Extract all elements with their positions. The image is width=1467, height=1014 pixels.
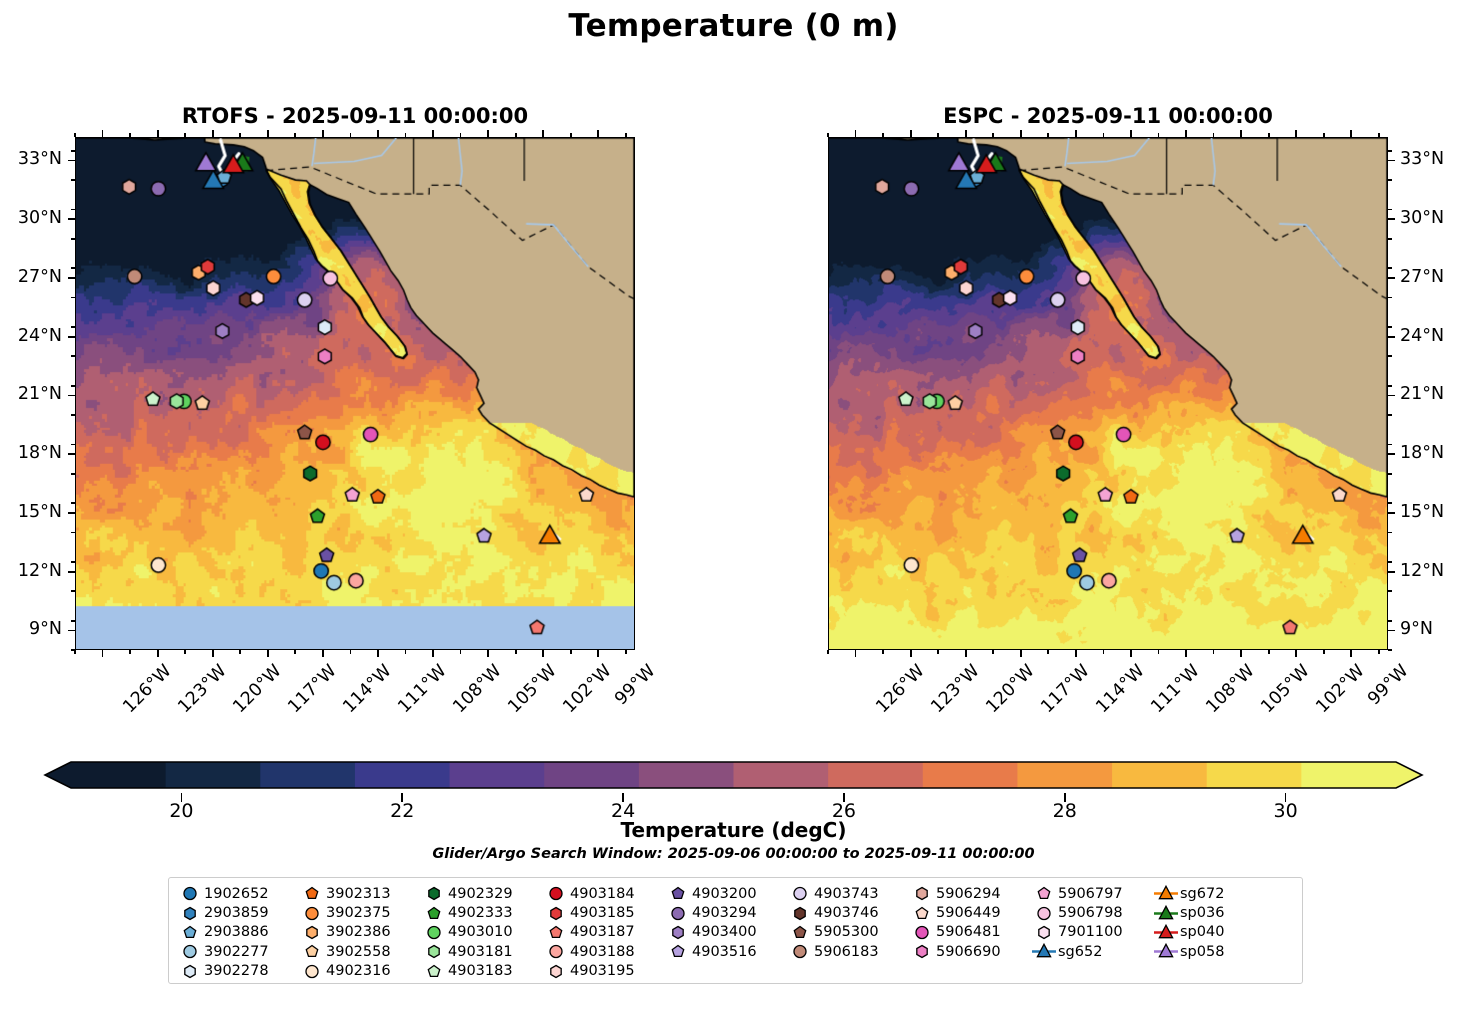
lon-minor-tick (1323, 133, 1325, 137)
colorbar-extend-min (45, 762, 71, 788)
lon-tick-label: 105°W (505, 661, 561, 717)
lon-tick-top (1075, 130, 1077, 137)
lon-tick-top (157, 130, 159, 137)
lat-tick-label: 30°N (0, 208, 62, 228)
search-window-note: Glider/Argo Search Window: 2025-09-06 00… (0, 846, 1467, 862)
lon-minor-tick (1213, 133, 1215, 137)
lon-minor-tick (239, 650, 241, 654)
hexagon-marker-icon (299, 923, 325, 942)
lat-minor-tick (1388, 355, 1392, 357)
lon-minor-tick (129, 133, 131, 137)
legend-column: 4903200490329449034004903516 (665, 884, 787, 981)
lon-minor-tick (1158, 650, 1160, 654)
lon-tick-label: 102°W (560, 661, 616, 717)
lon-tick (1130, 650, 1132, 657)
legend-item-label: 4902333 (447, 905, 513, 921)
legend-item[interactable]: sp040 (1153, 923, 1258, 942)
colorbar-segment (639, 762, 734, 788)
lon-tick (377, 650, 379, 657)
legend-item[interactable]: 4902316 (299, 962, 421, 981)
legend-column: 49031844903185490318749031884903195 (543, 884, 665, 981)
lat-minor-tick (71, 179, 75, 181)
lon-minor-tick (882, 650, 884, 654)
lon-minor-tick (460, 650, 462, 654)
lat-tick (1388, 512, 1395, 514)
map-canvas-espc (829, 138, 1387, 649)
map-panel-espc[interactable] (828, 137, 1388, 650)
legend-item-label: 2903859 (203, 905, 269, 921)
map-canvas-rtofs (76, 138, 634, 649)
legend-column: 4903743490374659053005906183 (787, 884, 909, 981)
legend-item-label: 4903746 (813, 905, 879, 921)
legend-item-label: 4903516 (691, 944, 757, 960)
glider-marker-icon (1153, 942, 1179, 961)
legend-item-label: sg652 (1057, 944, 1102, 960)
lon-tick-label: 102°W (1313, 661, 1369, 717)
lat-tick (1388, 571, 1395, 573)
lat-minor-tick (71, 444, 75, 446)
lon-tick-top (487, 130, 489, 137)
legend-item[interactable]: 3902386 (299, 923, 421, 942)
legend-item-label: 4903200 (691, 886, 757, 902)
pentagon-marker-icon (177, 923, 203, 942)
circle-marker-icon (299, 904, 325, 923)
lon-tick-label: 114°W (1092, 661, 1148, 717)
legend-item-label: 4903183 (447, 963, 513, 979)
lon-tick (1020, 650, 1022, 657)
legend-item[interactable]: sg672 (1153, 884, 1258, 903)
legend-item-label: 5906183 (813, 944, 879, 960)
lat-minor-tick (1388, 209, 1392, 211)
legend-item-label: 3902558 (325, 944, 391, 960)
panel-title-espc: ESPC - 2025-09-11 00:00:00 (828, 104, 1388, 128)
lat-minor-tick (1388, 326, 1392, 328)
colorbar[interactable] (0, 758, 1467, 802)
legend-item[interactable]: 2903886 (177, 923, 299, 942)
legend-item-label: 5905300 (813, 924, 879, 940)
lon-tick-top (1020, 130, 1022, 137)
legend-item[interactable]: 5906294 (909, 884, 1031, 903)
hexagon-marker-icon (787, 904, 813, 923)
legend-item[interactable]: 4903400 (665, 923, 787, 942)
circle-marker-icon (909, 923, 935, 942)
legend-item-label: 3902386 (325, 924, 391, 940)
legend-item[interactable]: 4903183 (421, 962, 543, 981)
lat-minor-tick (71, 267, 75, 269)
lon-minor-tick (1323, 650, 1325, 654)
lat-minor-tick (71, 150, 75, 152)
lat-tick-label: 9°N (0, 619, 62, 639)
legend-item[interactable]: 5906449 (909, 903, 1031, 922)
legend-item[interactable]: 4903516 (665, 942, 787, 961)
lat-minor-tick (1388, 297, 1392, 299)
lat-minor-tick (1388, 649, 1392, 651)
hexagon-marker-icon (177, 904, 203, 923)
legend-column: 19026522903859290388639022773902278 (177, 884, 299, 981)
legend-item-label: 3902278 (203, 963, 269, 979)
lat-tick (68, 277, 75, 279)
circle-marker-icon (177, 884, 203, 903)
lon-tick-label: 111°W (1147, 661, 1203, 717)
lon-minor-tick (350, 650, 352, 654)
legend-item-label: 5906481 (935, 924, 1001, 940)
circle-marker-icon (421, 923, 447, 942)
lon-minor-tick (129, 650, 131, 654)
legend-item[interactable]: sg652 (1031, 942, 1153, 961)
lat-tick-label: 12°N (1400, 561, 1444, 581)
lat-tick (68, 218, 75, 220)
lon-tick (910, 650, 912, 657)
lat-minor-tick (1388, 414, 1392, 416)
lon-minor-tick (1268, 133, 1270, 137)
lon-minor-tick (992, 650, 994, 654)
legend-item-label: 5906798 (1057, 905, 1123, 921)
legend-item-label: 4903181 (447, 944, 513, 960)
legend-item-label: 4902329 (447, 886, 513, 902)
lon-minor-tick (184, 133, 186, 137)
lon-tick-label: 108°W (449, 661, 505, 717)
lon-tick (1295, 650, 1297, 657)
lat-tick (1388, 218, 1395, 220)
lat-tick (1388, 336, 1395, 338)
hexagon-marker-icon (543, 904, 569, 923)
glider-marker-icon (1153, 923, 1179, 942)
lon-tick (542, 650, 544, 657)
lon-tick-label: 123°W (174, 661, 230, 717)
lon-tick-label: 120°W (982, 661, 1038, 717)
legend-item[interactable]: 3902313 (299, 884, 421, 903)
lon-tick-label: 111°W (394, 661, 450, 717)
legend-item[interactable]: 5906798 (1031, 903, 1153, 922)
lat-tick (1388, 160, 1395, 162)
legend-item-label: 2903886 (203, 924, 269, 940)
lon-tick-label: 114°W (339, 661, 395, 717)
circle-marker-icon (787, 884, 813, 903)
figure-root: Temperature (0 m) RTOFS - 2025-09-11 00:… (0, 0, 1467, 1014)
legend-column: 49023294902333490301049031814903183 (421, 884, 543, 981)
lon-tick (212, 650, 214, 657)
colorbar-segment (1207, 762, 1302, 788)
lat-minor-tick (1388, 590, 1392, 592)
lat-tick-label: 15°N (1400, 502, 1444, 522)
legend-item[interactable]: 4903187 (543, 923, 665, 942)
colorbar-segment (544, 762, 639, 788)
legend-item[interactable]: 2903859 (177, 903, 299, 922)
lat-tick-label: 27°N (0, 267, 62, 287)
colorbar-segment (1017, 762, 1112, 788)
lat-tick (1388, 277, 1395, 279)
circle-marker-icon (177, 942, 203, 961)
legend-item[interactable]: 4903188 (543, 942, 665, 961)
lon-minor-tick (515, 133, 517, 137)
lon-tick-label: 108°W (1202, 661, 1258, 717)
lat-tick (68, 512, 75, 514)
legend-item[interactable]: 4902329 (421, 884, 543, 903)
legend-item[interactable]: 5906481 (909, 923, 1031, 942)
lat-tick-label: 18°N (1400, 443, 1444, 463)
lon-minor-tick (294, 650, 296, 654)
pentagon-marker-icon (665, 942, 691, 961)
lon-tick-top (542, 130, 544, 137)
lon-tick-top (1240, 130, 1242, 137)
lon-minor-tick (405, 133, 407, 137)
lon-minor-tick (74, 133, 76, 137)
legend-item-label: 1902652 (203, 886, 269, 902)
legend-item[interactable]: 5906690 (909, 942, 1031, 961)
glider-marker-icon (1031, 942, 1057, 961)
lat-tick (68, 395, 75, 397)
legend-item[interactable]: 3902277 (177, 942, 299, 961)
lon-minor-tick (570, 133, 572, 137)
lon-tick (1240, 650, 1242, 657)
lon-tick-top (377, 130, 379, 137)
legend-item[interactable]: 4903185 (543, 903, 665, 922)
lat-tick (1388, 630, 1395, 632)
lat-tick (68, 160, 75, 162)
lon-tick-top (322, 130, 324, 137)
lon-minor-tick (1103, 133, 1105, 137)
legend-item-label: 3902313 (325, 886, 391, 902)
lon-minor-tick (74, 650, 76, 654)
legend-column: sg672sp036sp040sp058 (1153, 884, 1258, 981)
lon-tick-label: 105°W (1258, 661, 1314, 717)
legend-item-label: 4903185 (569, 905, 635, 921)
lat-tick-label: 12°N (0, 561, 62, 581)
hexagon-marker-icon (543, 962, 569, 981)
legend-item[interactable]: 3902375 (299, 903, 421, 922)
lon-tick-label: 117°W (284, 661, 340, 717)
legend-item-label: sp058 (1179, 944, 1224, 960)
legend-item-label: 4903184 (569, 886, 635, 902)
lon-tick-label: 99°W (611, 661, 659, 709)
legend-item[interactable]: 4903743 (787, 884, 909, 903)
lat-tick-label: 24°N (0, 326, 62, 346)
legend-item-label: 4903400 (691, 924, 757, 940)
lon-tick (1185, 650, 1187, 657)
pentagon-marker-icon (299, 884, 325, 903)
circle-marker-icon (665, 904, 691, 923)
lon-tick (1075, 650, 1077, 657)
lon-minor-tick (1047, 133, 1049, 137)
lat-minor-tick (1388, 502, 1392, 504)
colorbar-segment (734, 762, 829, 788)
lon-minor-tick (1268, 650, 1270, 654)
lon-minor-tick (1047, 650, 1049, 654)
legend-item[interactable]: 5905300 (787, 923, 909, 942)
legend-item-label: 7901100 (1057, 924, 1123, 940)
legend-item-label: 4903010 (447, 924, 513, 940)
lon-tick-top (597, 130, 599, 137)
legend-item[interactable]: 4903294 (665, 903, 787, 922)
lon-tick-top (965, 130, 967, 137)
colorbar-segment (1301, 762, 1396, 788)
lon-minor-tick (184, 650, 186, 654)
lat-minor-tick (71, 414, 75, 416)
pentagon-marker-icon (909, 904, 935, 923)
lon-tick-top (432, 130, 434, 137)
lat-minor-tick (1388, 620, 1392, 622)
legend-column: 39023133902375390238639025584902316 (299, 884, 421, 981)
lat-tick-label: 9°N (1400, 619, 1433, 639)
lon-minor-tick (882, 133, 884, 137)
legend-item-label: 5906797 (1057, 886, 1123, 902)
lat-minor-tick (1388, 561, 1392, 563)
lat-minor-tick (1388, 267, 1392, 269)
lon-tick (432, 650, 434, 657)
legend-item[interactable]: 4902333 (421, 903, 543, 922)
lon-minor-tick (937, 650, 939, 654)
lat-tick (1388, 453, 1395, 455)
lat-minor-tick (71, 355, 75, 357)
legend-item-label: 4903188 (569, 944, 635, 960)
lon-minor-tick (460, 133, 462, 137)
hexagon-marker-icon (909, 942, 935, 961)
colorbar-segment (166, 762, 261, 788)
colorbar-segment (260, 762, 355, 788)
lat-minor-tick (71, 238, 75, 240)
map-panel-rtofs[interactable] (75, 137, 635, 650)
legend-item[interactable]: 4903181 (421, 942, 543, 961)
hexagon-marker-icon (909, 884, 935, 903)
lat-minor-tick (1388, 385, 1392, 387)
lon-tick-label: 120°W (229, 661, 285, 717)
colorbar-segment (71, 762, 166, 788)
legend-item[interactable]: 4903195 (543, 962, 665, 981)
legend-item[interactable]: 3902278 (177, 962, 299, 981)
lat-tick-label: 18°N (0, 443, 62, 463)
lat-tick (68, 336, 75, 338)
lon-tick-top (212, 130, 214, 137)
lat-minor-tick (1388, 444, 1392, 446)
legend-item[interactable]: 1902652 (177, 884, 299, 903)
lon-tick-top (267, 130, 269, 137)
hexagon-marker-icon (421, 942, 447, 961)
legend-item-label: 5906449 (935, 905, 1001, 921)
lat-tick-label: 21°N (0, 384, 62, 404)
pentagon-marker-icon (421, 904, 447, 923)
lat-minor-tick (71, 532, 75, 534)
lon-tick-top (855, 130, 857, 137)
lon-minor-tick (1103, 650, 1105, 654)
colorbar-segment (355, 762, 450, 788)
lon-tick-top (910, 130, 912, 137)
circle-marker-icon (543, 942, 569, 961)
lon-tick-label: 123°W (927, 661, 983, 717)
panel-title-rtofs: RTOFS - 2025-09-11 00:00:00 (75, 104, 635, 128)
legend-item[interactable]: 7901100 (1031, 923, 1153, 942)
lat-minor-tick (71, 326, 75, 328)
lat-minor-tick (1388, 473, 1392, 475)
lat-minor-tick (71, 561, 75, 563)
legend-item-label: 4902316 (325, 963, 391, 979)
lon-minor-tick (625, 650, 627, 654)
lon-tick (965, 650, 967, 657)
pentagon-marker-icon (299, 942, 325, 961)
legend-item-label: 5906294 (935, 886, 1001, 902)
lat-minor-tick (71, 385, 75, 387)
glider-marker-icon (1153, 884, 1179, 903)
lon-tick (855, 650, 857, 657)
legend-item[interactable]: sp058 (1153, 942, 1258, 961)
lat-minor-tick (71, 620, 75, 622)
lon-minor-tick (515, 650, 517, 654)
lat-tick (1388, 395, 1395, 397)
legend-item[interactable]: sp036 (1153, 903, 1258, 922)
hexagon-marker-icon (177, 962, 203, 981)
lon-minor-tick (1213, 650, 1215, 654)
lon-tick-label: 126°W (872, 661, 928, 717)
legend-item-label: 4903294 (691, 905, 757, 921)
lon-minor-tick (570, 650, 572, 654)
lon-tick (322, 650, 324, 657)
legend-column: 590679759067987901100sg652 (1031, 884, 1153, 981)
lon-minor-tick (294, 133, 296, 137)
lon-tick-top (102, 130, 104, 137)
lon-tick-top (1130, 130, 1132, 137)
glider-marker-icon (1153, 904, 1179, 923)
legend-item-label: 4903195 (569, 963, 635, 979)
lon-tick (487, 650, 489, 657)
lon-tick (102, 650, 104, 657)
legend-item[interactable]: 3902558 (299, 942, 421, 961)
lat-minor-tick (71, 590, 75, 592)
circle-marker-icon (299, 962, 325, 981)
legend-item[interactable]: 4903010 (421, 923, 543, 942)
lon-minor-tick (827, 133, 829, 137)
lon-minor-tick (1158, 133, 1160, 137)
figure-title: Temperature (0 m) (0, 8, 1467, 44)
lon-tick (597, 650, 599, 657)
colorbar-extend-max (1396, 762, 1422, 788)
legend[interactable]: 1902652290385929038863902277390227839023… (168, 877, 1303, 984)
legend-item-label: 4903187 (569, 924, 635, 940)
legend-item[interactable]: 4903746 (787, 903, 909, 922)
legend-column: 5906294590644959064815906690 (909, 884, 1031, 981)
lon-tick-top (1295, 130, 1297, 137)
lon-tick-top (1350, 130, 1352, 137)
legend-item[interactable]: 4903184 (543, 884, 665, 903)
colorbar-segment (1112, 762, 1207, 788)
legend-item[interactable]: 5906797 (1031, 884, 1153, 903)
pentagon-marker-icon (543, 923, 569, 942)
legend-item[interactable]: 5906183 (787, 942, 909, 961)
lat-minor-tick (1388, 179, 1392, 181)
pentagon-marker-icon (1031, 884, 1057, 903)
lon-tick-label: 117°W (1037, 661, 1093, 717)
lon-tick-top (1185, 130, 1187, 137)
colorbar-label: Temperature (degC) (0, 818, 1467, 842)
legend-grid: 1902652290385929038863902277390227839023… (177, 884, 1258, 981)
lat-minor-tick (1388, 532, 1392, 534)
legend-item[interactable]: 4903200 (665, 884, 787, 903)
lat-tick-label: 21°N (1400, 384, 1444, 404)
circle-marker-icon (543, 884, 569, 903)
hexagon-marker-icon (665, 923, 691, 942)
legend-item-label: 3902375 (325, 905, 391, 921)
lat-minor-tick (71, 502, 75, 504)
lat-tick-label: 30°N (1400, 208, 1444, 228)
lon-minor-tick (1378, 650, 1380, 654)
hexagon-marker-icon (421, 884, 447, 903)
lat-minor-tick (71, 473, 75, 475)
lon-tick-label: 126°W (119, 661, 175, 717)
circle-marker-icon (787, 942, 813, 961)
lon-tick (267, 650, 269, 657)
pentagon-marker-icon (787, 923, 813, 942)
lon-tick (157, 650, 159, 657)
lon-tick (1350, 650, 1352, 657)
lon-tick-label: 99°W (1364, 661, 1412, 709)
